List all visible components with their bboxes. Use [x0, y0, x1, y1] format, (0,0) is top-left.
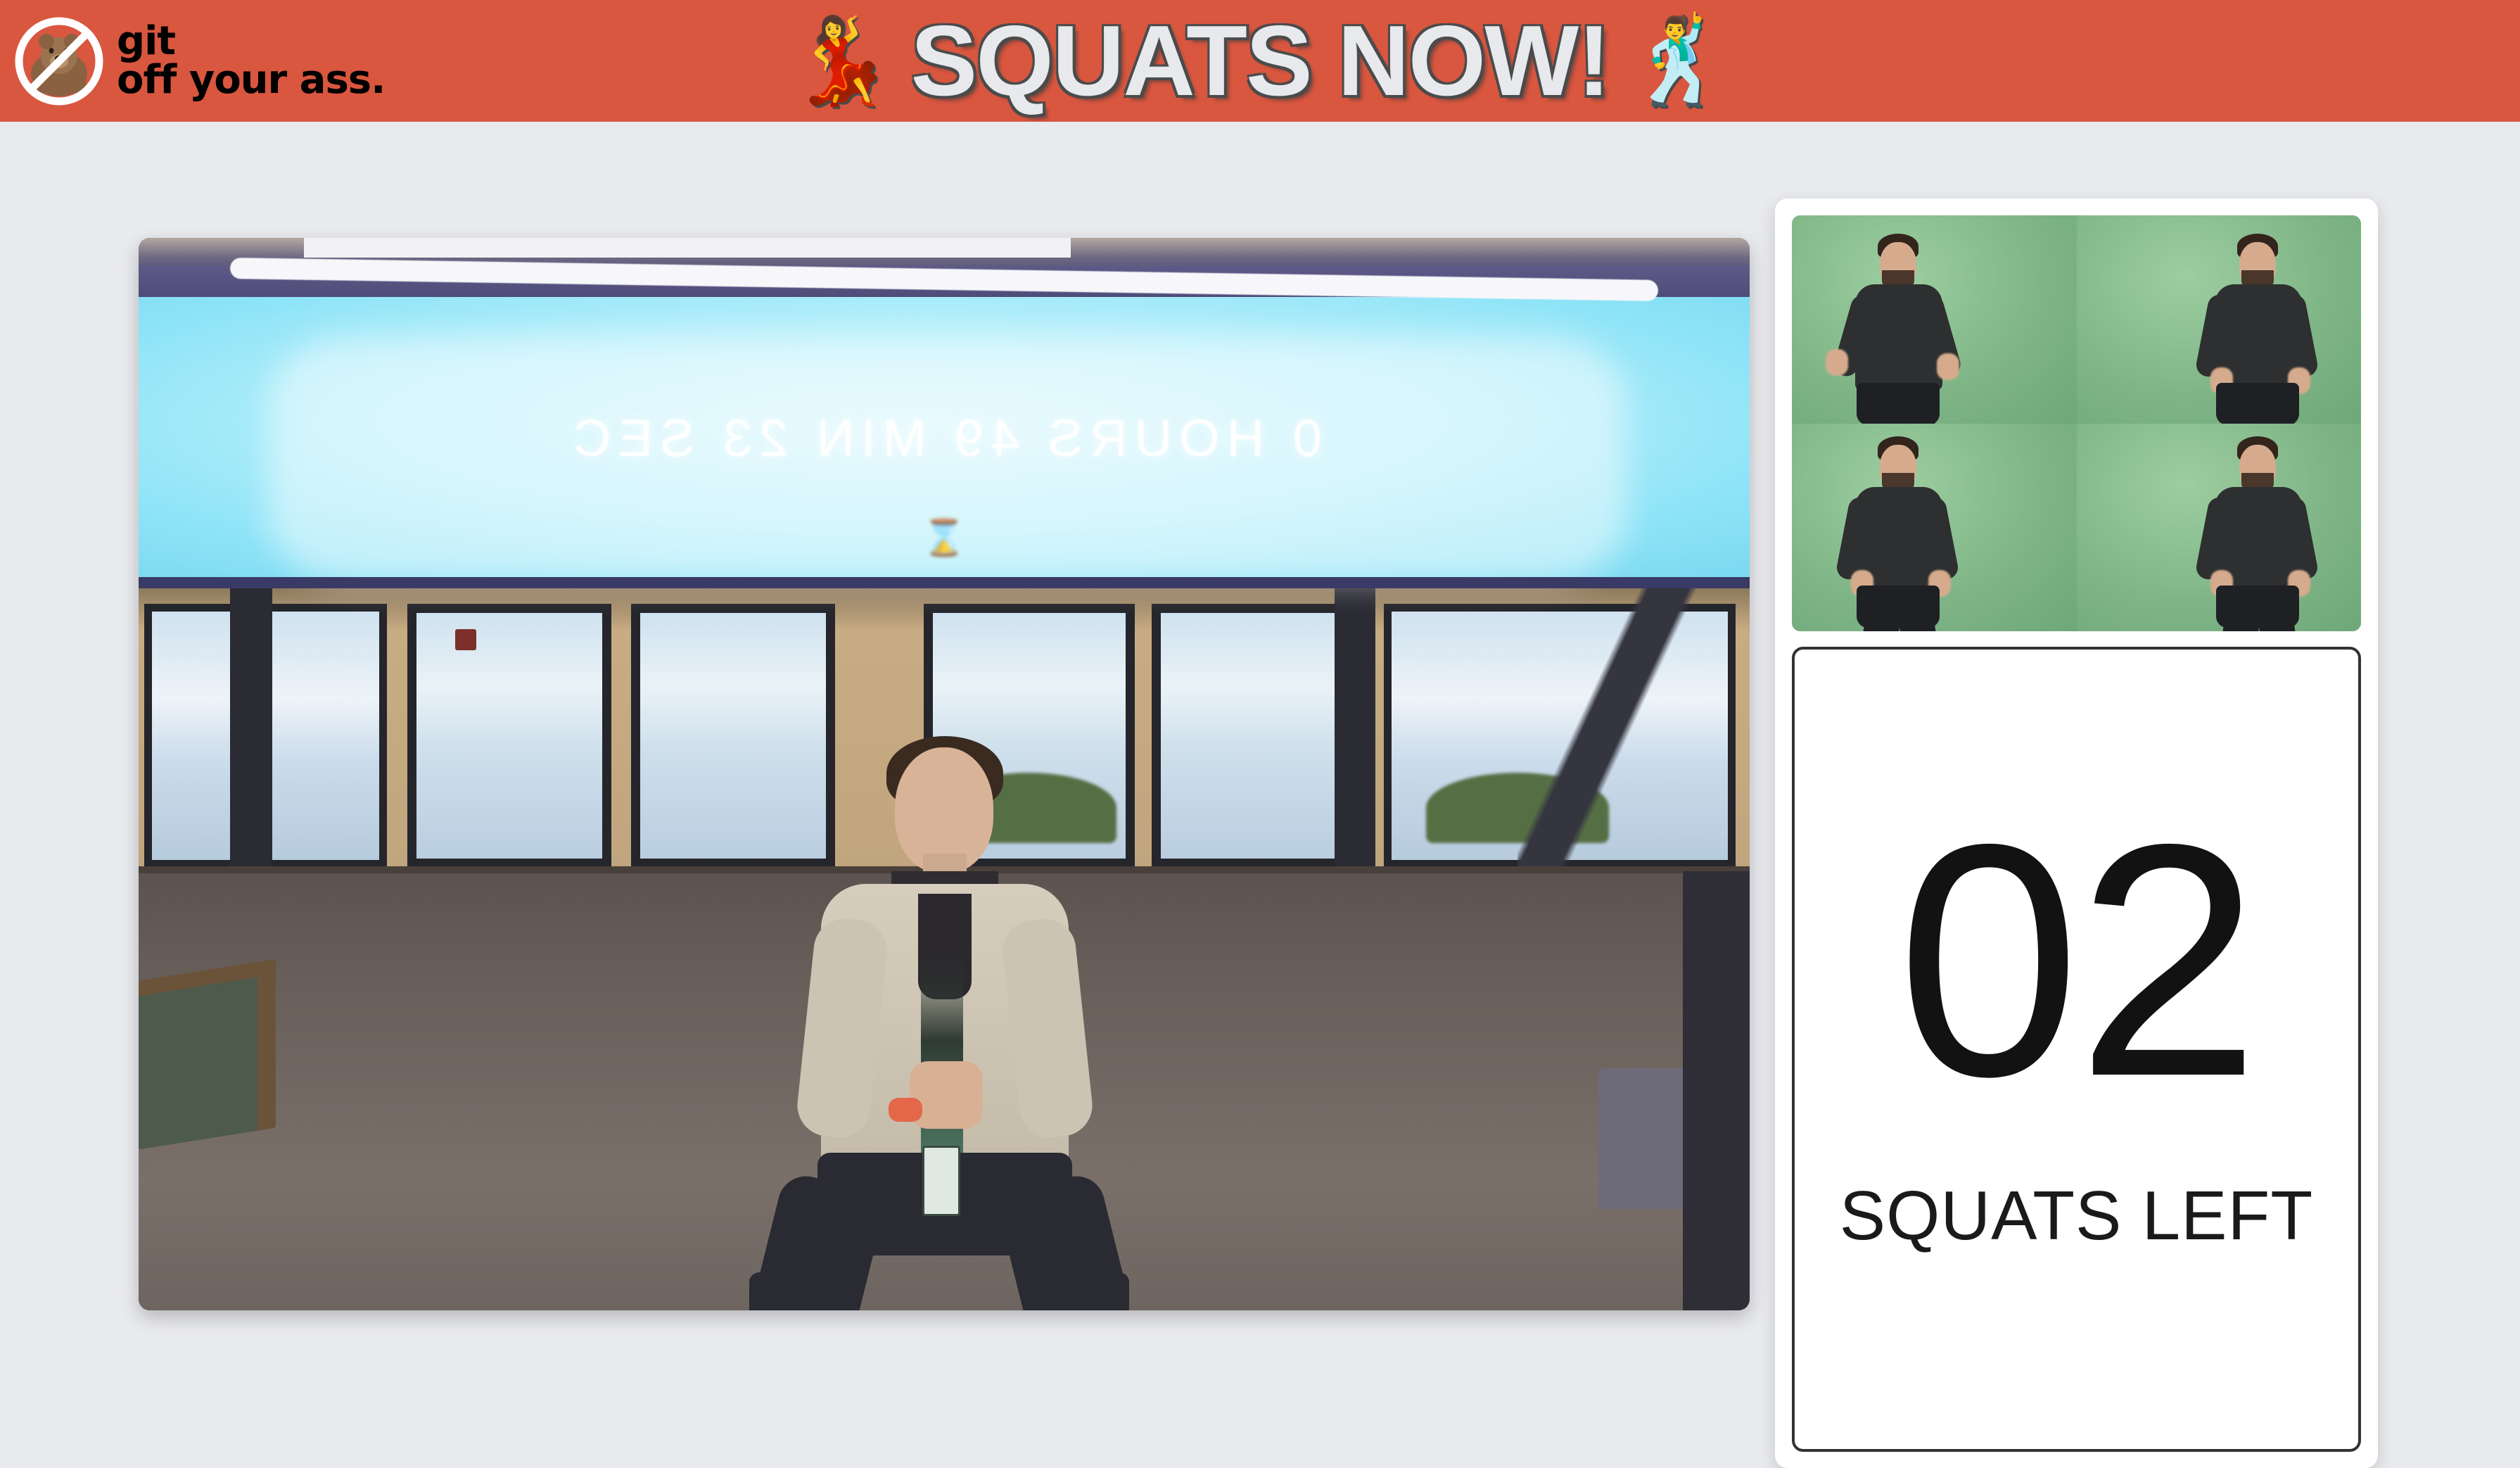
woman-dancing-icon: 💃 — [789, 19, 893, 103]
squat-counter-value: 02 — [1897, 815, 2256, 1106]
clip-cell[interactable] — [2077, 424, 2362, 632]
projected-sub-text: ⌛ — [139, 517, 1750, 559]
motivation-figure — [1792, 215, 2077, 424]
person-hands — [910, 1061, 983, 1129]
door-column — [1335, 588, 1375, 870]
lobby-door — [407, 604, 611, 868]
brand-logo[interactable]: git off your ass. — [10, 12, 385, 110]
motivation-figure — [2077, 215, 2362, 424]
projected-browser-tabstrip — [304, 238, 1071, 258]
lobby-door — [1152, 604, 1363, 868]
clip-cell[interactable] — [1792, 424, 2077, 632]
projector-frame-bottom — [139, 577, 1750, 588]
motivation-figure — [1792, 424, 2077, 632]
squat-counter-card: 02 SQUATS LEFT — [1792, 647, 2361, 1452]
clip-cell[interactable] — [1792, 215, 2077, 424]
page-title: SQUATS NOW! — [911, 4, 1610, 119]
main-stage: 0 HOURS 49 MIN 23 SEC ⌛ — [0, 122, 2520, 1412]
no-bear-icon — [10, 12, 108, 110]
brand-wordmark: git off your ass. — [117, 23, 385, 100]
projected-countdown-text: 0 HOURS 49 MIN 23 SEC — [139, 408, 1750, 468]
person-shin-right — [1053, 1272, 1129, 1310]
wall-panel-right — [1683, 871, 1750, 1310]
figure-hand-left — [1826, 349, 1848, 376]
door-column — [230, 588, 272, 870]
squat-counter-label: SQUATS LEFT — [1840, 1176, 2314, 1255]
motivation-figure — [2077, 424, 2362, 632]
brand-line-1: git — [117, 23, 385, 61]
person-wristband — [889, 1098, 922, 1122]
figure-hand-right — [1937, 353, 1959, 380]
man-dancing-icon: 🕺 — [1626, 19, 1731, 103]
clip-cell[interactable] — [2077, 215, 2362, 424]
squat-webcam-feed[interactable]: 0 HOURS 49 MIN 23 SEC ⌛ — [139, 238, 1750, 1310]
person-badge — [922, 1146, 960, 1216]
person-shin-left — [749, 1272, 825, 1310]
sidebar-panel: 02 SQUATS LEFT — [1775, 198, 2378, 1468]
motivation-clip-grid[interactable] — [1792, 215, 2361, 631]
exit-sign — [455, 629, 476, 650]
projected-screen: 0 HOURS 49 MIN 23 SEC ⌛ — [139, 274, 1750, 581]
brand-line-2: off your ass. — [117, 61, 385, 100]
squatting-person — [715, 730, 1173, 1310]
lobby-chair-left — [139, 959, 276, 1150]
app-header: git off your ass. 💃 SQUATS NOW! 🕺 — [0, 0, 2520, 122]
